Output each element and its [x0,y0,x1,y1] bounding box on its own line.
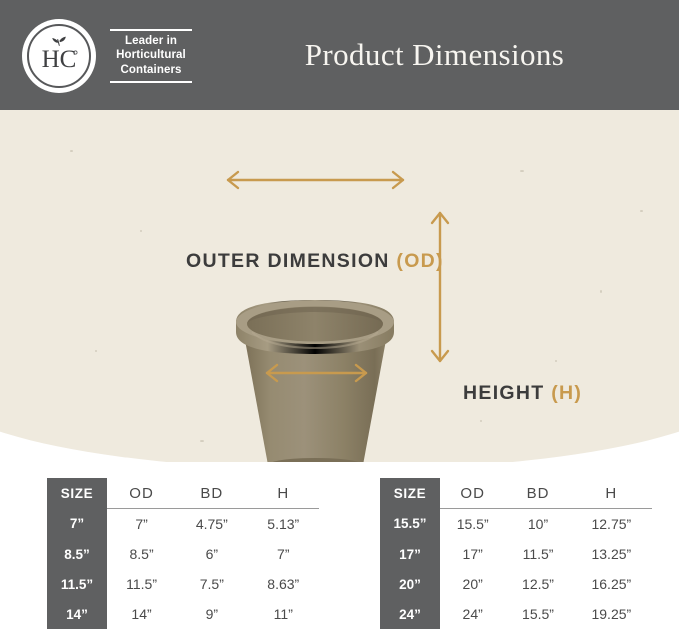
cell-h: 7” [248,539,319,569]
table-row: 20” 20” 12.5” 16.25” [380,569,652,599]
cell-bd: 4.75” [176,509,247,540]
cell-od: 20” [440,569,505,599]
cell-bd: 10” [505,509,570,540]
table-row: 14” 14” 9” 11” [47,599,319,629]
cell-od: 11.5” [107,569,176,599]
column-header-od: OD [107,478,176,509]
header-bar: HC Leader in Horticultural Containers Pr… [0,0,679,110]
page-title: Product Dimensions [0,0,679,110]
column-header-bd: BD [176,478,247,509]
cell-size: 15.5” [380,509,440,540]
cell-bd: 12.5” [505,569,570,599]
cell-bd: 6” [176,539,247,569]
table-header-row: SIZE OD BD H [47,478,319,509]
cell-size: 8.5” [47,539,107,569]
height-arrow-icon [432,213,448,361]
cell-size: 14” [47,599,107,629]
height-label: HEIGHT (H) [463,382,582,405]
cell-h: 11” [248,599,319,629]
table-row: 17” 17” 11.5” 13.25” [380,539,652,569]
od-arrow-icon [228,172,403,188]
cell-od: 24” [440,599,505,629]
specification-tables: SIZE OD BD H 7” 7” 4.75” 5.13” 8.5” 8.5”… [0,462,679,636]
cell-h: 12.75” [571,509,652,540]
diagram-content: OUTER DIMENSION (OD) BASE DIMENSION (BD)… [0,110,679,462]
cell-h: 8.63” [248,569,319,599]
od-label-text: OUTER DIMENSION [186,250,390,272]
table-row: 24” 24” 15.5” 19.25” [380,599,652,629]
column-header-bd: BD [505,478,570,509]
column-header-h: H [571,478,652,509]
h-abbr: (H) [551,382,582,404]
od-abbr: (OD) [396,250,443,272]
cell-size: 24” [380,599,440,629]
diagram-panel: OUTER DIMENSION (OD) BASE DIMENSION (BD)… [0,110,679,462]
cell-h: 13.25” [571,539,652,569]
column-header-od: OD [440,478,505,509]
table-header-row: SIZE OD BD H [380,478,652,509]
cell-bd: 15.5” [505,599,570,629]
cell-h: 19.25” [571,599,652,629]
cell-od: 7” [107,509,176,540]
table-row: 11.5” 11.5” 7.5” 8.63” [47,569,319,599]
bd-arrow-icon [267,365,366,381]
column-header-h: H [248,478,319,509]
cell-h: 16.25” [571,569,652,599]
cell-size: 17” [380,539,440,569]
cell-od: 17” [440,539,505,569]
spec-table-large: SIZE OD BD H 15.5” 15.5” 10” 12.75” 17” … [380,478,652,629]
cell-bd: 7.5” [176,569,247,599]
table-row: 7” 7” 4.75” 5.13” [47,509,319,540]
cell-od: 15.5” [440,509,505,540]
cell-od: 14” [107,599,176,629]
cell-size: 20” [380,569,440,599]
cell-size: 7” [47,509,107,540]
table-row: 15.5” 15.5” 10” 12.75” [380,509,652,540]
cell-bd: 11.5” [505,539,570,569]
dimension-arrows [0,110,679,462]
column-header-size: SIZE [47,478,107,509]
column-header-size: SIZE [380,478,440,509]
cell-od: 8.5” [107,539,176,569]
table-row: 8.5” 8.5” 6” 7” [47,539,319,569]
cell-h: 5.13” [248,509,319,540]
spec-table-small: SIZE OD BD H 7” 7” 4.75” 5.13” 8.5” 8.5”… [47,478,319,629]
cell-size: 11.5” [47,569,107,599]
outer-dimension-label: OUTER DIMENSION (OD) [186,250,444,273]
cell-bd: 9” [176,599,247,629]
h-label-text: HEIGHT [463,382,544,404]
